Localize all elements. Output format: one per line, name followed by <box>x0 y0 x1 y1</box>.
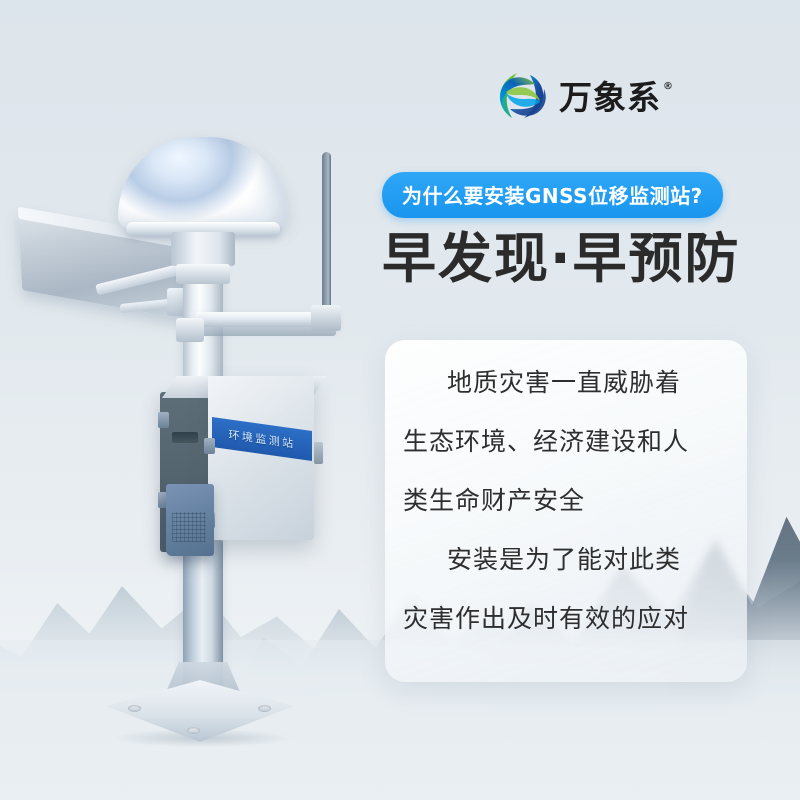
brand-name-text: 万象系 <box>559 81 661 114</box>
radome-neck <box>171 232 235 266</box>
description-card-body: 地质灾害一直威胁着 生态环境、经济建设和人 类生命财产安全 安装是为了能对此类 … <box>385 370 747 631</box>
base-bolt-hole-front <box>187 727 200 734</box>
question-badge: 为什么要安装GNSS位移监测站? <box>382 172 723 218</box>
description-line: 安装是为了能对此类 <box>403 547 729 572</box>
cross-arm-mast-clamp <box>176 318 204 342</box>
enclosure-bracket-upper <box>204 438 215 454</box>
description-line: 灾害作出及时有效的应对 <box>403 606 729 631</box>
swirl-globe-logo-icon <box>497 71 549 123</box>
gnss-monitoring-station-illustration: 环境监测站 <box>0 0 400 800</box>
whip-antenna <box>322 152 331 320</box>
description-card: 地质灾害一直威胁着 生态环境、经济建设和人 类生命财产安全 安装是为了能对此类 … <box>385 340 747 682</box>
enclosure-vent-slot <box>172 432 198 443</box>
poster-canvas: 环境监测站 <box>0 0 800 800</box>
description-line: 类生命财产安全 <box>403 488 729 513</box>
page-headline: 早发现·早预防 <box>382 228 741 290</box>
enclosure-label-text: 环境监测站 <box>229 426 296 451</box>
base-bolt-hole-right <box>258 705 271 712</box>
enclosure-latch <box>314 442 323 464</box>
brand-wordmark: 万象系 ® <box>559 81 674 114</box>
base-bolt-hole-left <box>128 705 141 712</box>
whip-antenna-mount <box>311 305 341 331</box>
enclosure-speaker-grill <box>172 512 206 542</box>
description-line: 生态环境、经济建设和人 <box>403 429 729 454</box>
brand-logo: 万象系 ® <box>497 68 667 126</box>
enclosure-hinge-upper <box>158 412 169 428</box>
gnss-radome-antenna-icon <box>118 137 288 229</box>
mast-collar-clamp <box>176 264 230 284</box>
description-line: 地质灾害一直威胁着 <box>403 370 729 395</box>
registered-trademark-icon: ® <box>663 82 674 92</box>
